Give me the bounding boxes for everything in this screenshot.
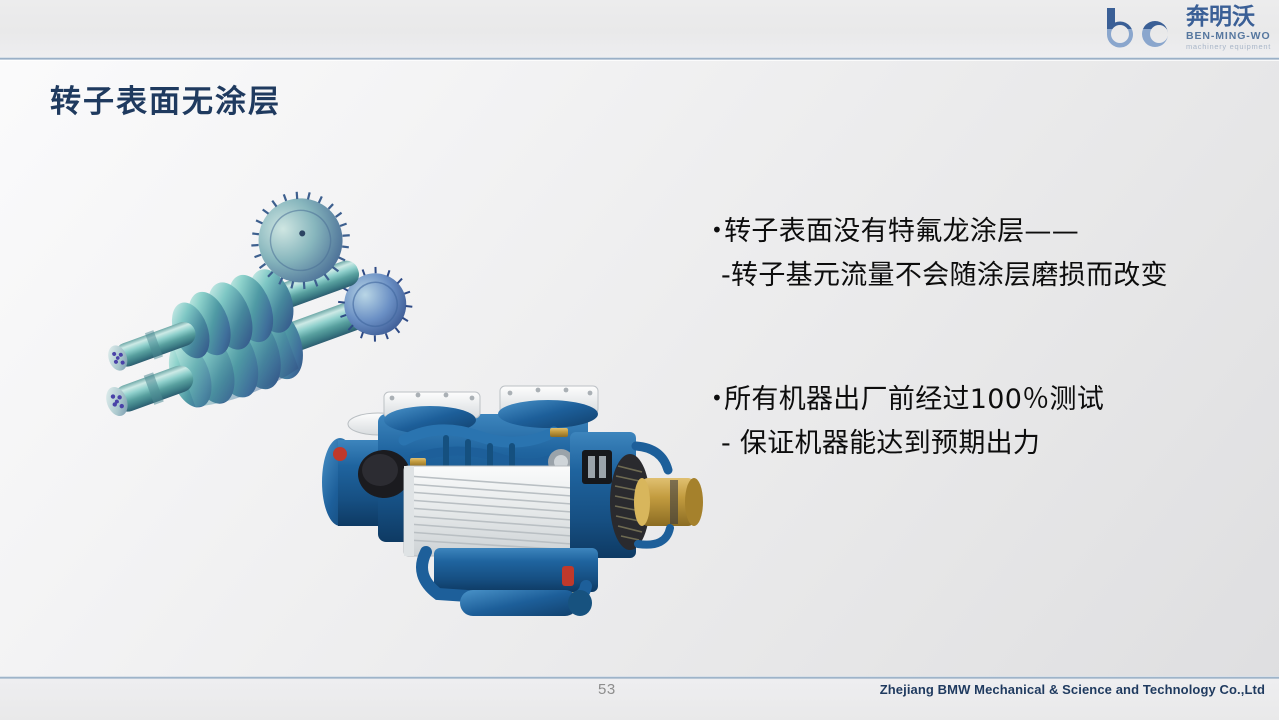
- bo-logomark-icon: [1103, 6, 1183, 52]
- bullet-subtext-1: -转子基元流量不会随涂层磨损而改变: [711, 254, 1251, 298]
- page-title: 转子表面无涂层: [50, 76, 281, 121]
- logo-wordmark: 奔明沃 BEN-MING-WO machinery equipment: [1186, 6, 1271, 53]
- logo-tagline: machinery equipment: [1186, 42, 1271, 52]
- logo-chinese-name: 奔明沃: [1186, 5, 1255, 30]
- logo-latin-name: BEN-MING-WO: [1186, 30, 1271, 42]
- bullet-item-1: •转子表面没有特氟龙涂层——: [711, 208, 1251, 254]
- page-number: 53: [598, 681, 616, 698]
- bullet-block-1: •转子表面没有特氟龙涂层—— -转子基元流量不会随涂层磨损而改变: [711, 208, 1251, 298]
- presentation-slide: 奔明沃 BEN-MING-WO machinery equipment 转子表面…: [0, 0, 1279, 720]
- slide-body-text: •转子表面没有特氟龙涂层—— -转子基元流量不会随涂层磨损而改变 •所有机器出厂…: [711, 208, 1251, 466]
- bullet-text-1: 转子表面没有特氟龙涂层——: [724, 216, 1079, 247]
- bullet-item-2: •所有机器出厂前经过100％测试: [711, 376, 1251, 422]
- bullet-text-2: 所有机器出厂前经过100％测试: [724, 384, 1104, 415]
- footer-company-name: Zhejiang BMW Mechanical & Science and Te…: [880, 682, 1265, 697]
- bullet-marker-icon: •: [711, 386, 723, 410]
- bullet-marker-icon: •: [711, 218, 723, 242]
- bullet-block-2: •所有机器出厂前经过100％测试 - 保证机器能达到预期出力: [711, 376, 1251, 466]
- screw-compressor-image: [318, 362, 718, 630]
- company-logo[interactable]: 奔明沃 BEN-MING-WO machinery equipment: [1079, 2, 1271, 56]
- bullet-subtext-2: - 保证机器能达到预期出力: [711, 422, 1251, 466]
- header-divider-highlight: [0, 60, 1279, 61]
